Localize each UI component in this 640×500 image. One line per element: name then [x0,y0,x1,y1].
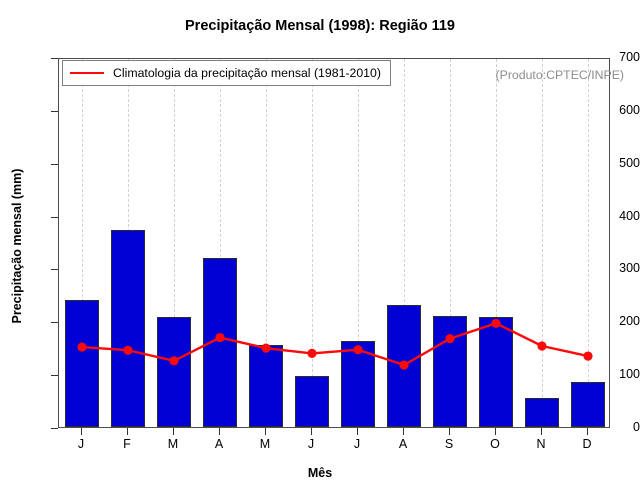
y-tick-100 [51,375,58,376]
x-tick-label-9: O [482,437,508,451]
y-tick-400 [51,217,58,218]
x-tick-label-10: N [528,437,554,451]
x-tick-3 [219,428,220,435]
climatology-marker-10 [537,341,546,350]
x-tick-label-7: A [390,437,416,451]
climatology-markers [77,319,592,370]
climatology-marker-7 [399,360,408,369]
legend: Climatologia da precipitação mensal (198… [62,60,391,86]
x-tick-0 [81,428,82,435]
x-tick-label-6: J [344,437,370,451]
y-tick-300 [51,269,58,270]
y-tick-700 [51,58,58,59]
legend-label-climatology: Climatologia da precipitação mensal (198… [113,66,381,80]
chart-figure: Precipitação Mensal (1998): Região 119 P… [0,0,640,500]
x-axis-label: Mês [0,466,640,480]
x-tick-label-0: J [68,437,94,451]
x-tick-9 [495,428,496,435]
x-tick-6 [357,428,358,435]
climatology-marker-9 [491,319,500,328]
page-title: Precipitação Mensal (1998): Região 119 [0,18,640,34]
climatology-line-series [59,59,610,428]
x-tick-5 [311,428,312,435]
y-tick-500 [51,164,58,165]
climatology-marker-3 [215,333,224,342]
climatology-marker-8 [445,334,454,343]
x-tick-1 [127,428,128,435]
y-axis-label: Precipitação mensal (mm) [10,136,24,356]
x-tick-8 [449,428,450,435]
climatology-marker-1 [123,346,132,355]
climatology-marker-6 [353,345,362,354]
legend-color-swatch-climatology [70,72,104,74]
y-tick-200 [51,322,58,323]
climatology-marker-0 [77,342,86,351]
x-tick-label-3: A [206,437,232,451]
climatology-marker-11 [583,351,592,360]
plot-area [58,58,610,428]
climatology-marker-5 [307,349,316,358]
y-tick-0 [51,428,58,429]
y-tick-600 [51,111,58,112]
x-tick-label-1: F [114,437,140,451]
x-tick-11 [587,428,588,435]
watermark-label: (Produto:CPTEC/INPE) [496,68,624,82]
x-tick-label-8: S [436,437,462,451]
climatology-marker-2 [169,356,178,365]
x-tick-label-5: J [298,437,324,451]
climatology-line [82,323,588,365]
x-tick-label-4: M [252,437,278,451]
x-tick-2 [173,428,174,435]
x-tick-label-2: M [160,437,186,451]
x-tick-10 [541,428,542,435]
x-tick-7 [403,428,404,435]
x-tick-4 [265,428,266,435]
x-tick-label-11: D [574,437,600,451]
climatology-marker-4 [261,344,270,353]
